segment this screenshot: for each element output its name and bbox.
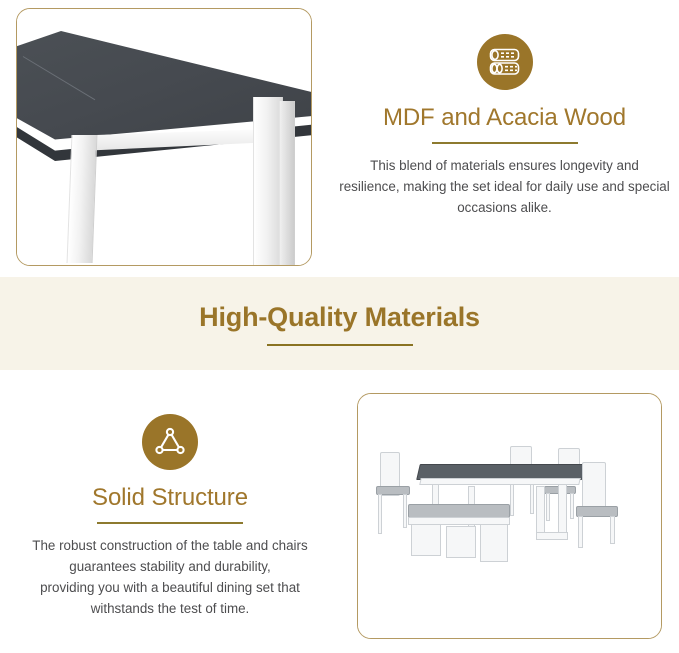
bench-seat-cushion — [408, 504, 510, 518]
bench-leg-center — [446, 526, 476, 558]
feature-mdf-and-acacia-wood: MDF and Acacia Wood This blend of materi… — [330, 34, 679, 218]
table-base-rail — [536, 532, 568, 540]
bench-leg-left — [411, 524, 441, 556]
bench-leg-right — [480, 524, 508, 562]
feature-body-line: providing you with a beautiful dining se… — [0, 577, 340, 598]
feature-body-line: This blend of materials ensures longevit… — [330, 155, 679, 176]
banner-divider — [267, 344, 413, 346]
chair-back-left-leg — [378, 494, 382, 534]
chair-far-right-leg — [570, 493, 574, 519]
feature-body-line: resilience, making the set ideal for dai… — [330, 176, 679, 197]
chair-front-right-leg — [578, 516, 583, 548]
triangle-truss-icon — [142, 414, 198, 470]
table-leg-front — [67, 135, 98, 263]
banner-title: High-Quality Materials — [199, 302, 480, 333]
table-corner-photo-frame — [16, 8, 312, 266]
table-leg-right-inner — [558, 484, 567, 536]
feature-body-line: withstands the test of time. — [0, 598, 340, 619]
feature-divider — [97, 522, 243, 524]
feature-body-line: occasions alike. — [330, 197, 679, 218]
feature-title: Solid Structure — [0, 484, 340, 512]
chair-back-left-leg — [403, 494, 407, 528]
chair-far-center-leg — [530, 482, 534, 514]
chair-far-center-leg — [510, 482, 514, 516]
stacked-logs-icon — [477, 34, 533, 90]
table-apron — [419, 478, 581, 485]
chair-far-right-leg — [546, 493, 550, 521]
feature-body: This blend of materials ensures longevit… — [330, 155, 679, 218]
feature-body-line: The robust construction of the table and… — [0, 535, 340, 556]
feature-body-line: guarantees stability and durability, — [0, 556, 340, 577]
table-leg-back-shadow — [279, 101, 295, 265]
feature-title: MDF and Acacia Wood — [330, 104, 679, 132]
section-banner: High-Quality Materials — [0, 277, 679, 370]
product-feature-page: MDF and Acacia Wood This blend of materi… — [0, 0, 679, 653]
table-corner-photo — [17, 9, 311, 265]
dining-set-photo-frame — [357, 393, 662, 639]
feature-divider — [432, 142, 578, 144]
feature-solid-structure: Solid Structure The robust construction … — [0, 414, 340, 619]
chair-front-right-leg — [610, 516, 615, 544]
feature-body: The robust construction of the table and… — [0, 535, 340, 619]
dining-set-photo — [358, 394, 661, 638]
